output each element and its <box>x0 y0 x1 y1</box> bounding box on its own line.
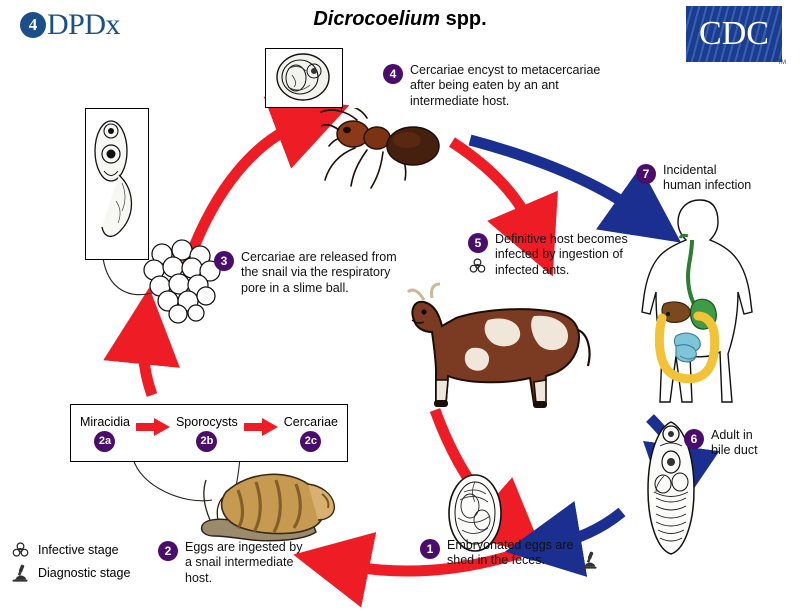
step-2-text: Eggs are ingested by a snail intermediat… <box>185 540 302 586</box>
biohazard-icon <box>11 540 30 559</box>
stage-arrow-2-icon <box>244 418 278 436</box>
step-6-text: Adult in bile duct <box>711 428 758 459</box>
step-5-text: Definitive host becomes infected by inge… <box>495 232 628 278</box>
stage-cell-cercariae: Cercariae 2c <box>284 415 338 452</box>
legend: Infective stage Diagnostic stage <box>8 540 130 587</box>
step-5-badge: 5 <box>468 233 488 253</box>
step-3-text: Cercariae are released from the snail vi… <box>241 250 397 296</box>
step-6-badge: 6 <box>684 429 704 449</box>
step-1-text: Embryonated eggs are shed in the feces. <box>447 538 573 569</box>
life-cycle-diagram: 4 DPDx Dicrocoelium spp. CDC TM <box>0 0 800 610</box>
step-1-badge: 1 <box>420 539 440 559</box>
step-7-text: Incidental human infection <box>663 163 751 194</box>
microscope-icon <box>10 563 30 583</box>
stage-badge-2c: 2c <box>300 431 321 452</box>
step-5: 5 Definitive host becomes infected by in… <box>468 232 653 278</box>
legend-row-diagnostic: Diagnostic stage <box>8 563 130 583</box>
legend-row-infective: Infective stage <box>8 540 130 559</box>
legend-label-diagnostic: Diagnostic stage <box>38 566 130 580</box>
stage-cell-sporocysts: Sporocysts 2b <box>176 415 238 452</box>
stage-badge-2b: 2b <box>196 431 217 452</box>
step-3-badge: 3 <box>214 251 234 271</box>
step-4-text: Cercariae encyst to metacercariae after … <box>410 63 600 109</box>
stage-cell-miracidia: Miracidia 2a <box>80 415 130 452</box>
ant-illustration <box>295 108 460 193</box>
step-1: 1 Embryonated eggs are shed in the feces… <box>420 538 600 570</box>
stage-arrow-1-icon <box>136 418 170 436</box>
human-anatomy-illustration <box>636 196 764 414</box>
step-6: 6 Adult in bile duct <box>684 428 794 459</box>
legend-label-infective: Infective stage <box>38 543 119 557</box>
step-2: 2 Eggs are ingested by a snail intermedi… <box>158 540 318 586</box>
stage-label-sporocysts: Sporocysts <box>176 415 238 429</box>
metacercaria-micrograph-box <box>265 48 343 108</box>
biohazard-icon <box>468 256 487 275</box>
step-3: 3 Cercariae are released from the snail … <box>214 250 414 296</box>
step-7: 7 Incidental human infection <box>636 163 786 194</box>
legend-biohazard-wrap <box>8 540 32 559</box>
step-4-badge: 4 <box>383 64 403 84</box>
microscope-icon <box>579 550 599 570</box>
arrow-2-to-3 <box>143 340 152 395</box>
stage-badge-2a: 2a <box>94 431 115 452</box>
metacercaria-micrograph <box>266 49 340 105</box>
step-4: 4 Cercariae encyst to metacercariae afte… <box>383 63 613 109</box>
step-7-badge: 7 <box>636 164 656 184</box>
stage-label-miracidia: Miracidia <box>80 415 130 429</box>
intramolluscan-stage-box: Miracidia 2a Sporocysts 2b Cercariae 2c <box>70 404 348 462</box>
step-2-badge: 2 <box>158 541 178 561</box>
cow-illustration <box>402 280 607 415</box>
cercaria-micrograph <box>86 109 146 257</box>
legend-microscope-wrap <box>8 563 32 583</box>
stage-label-cercariae: Cercariae <box>284 415 338 429</box>
